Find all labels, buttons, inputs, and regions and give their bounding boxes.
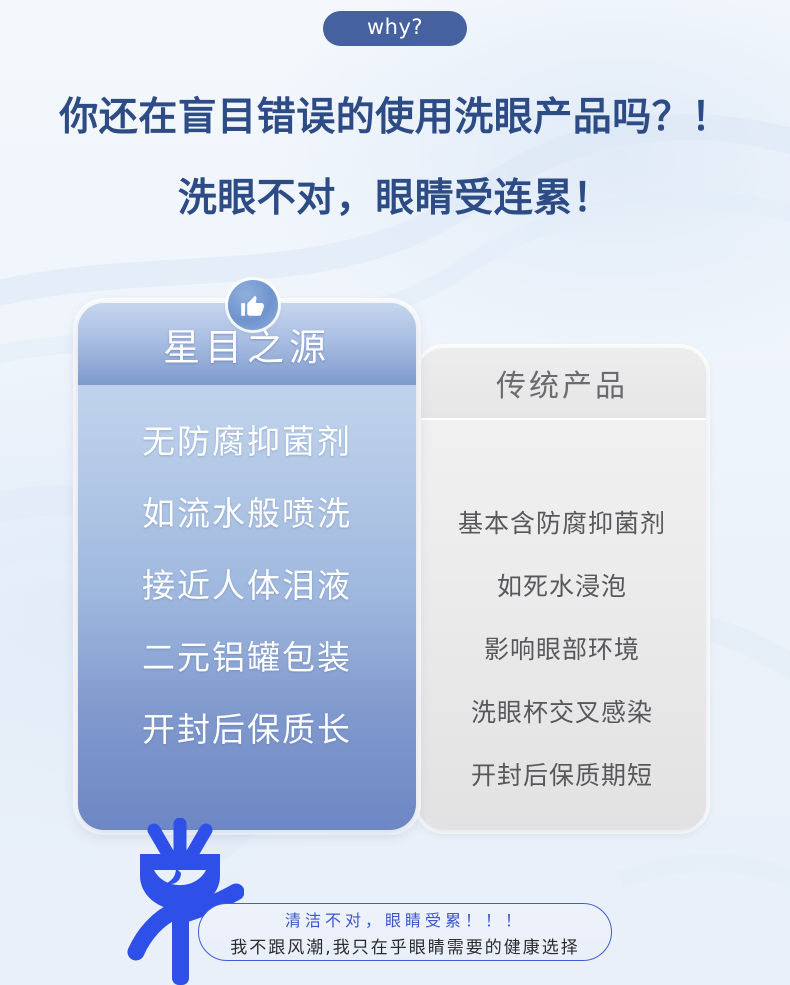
traditional-card-title: 传统产品	[496, 361, 628, 405]
list-item: 开封后保质期短	[471, 756, 653, 792]
traditional-product-card: 传统产品 基本含防腐抑菌剂 如死水浸泡 影响眼部环境 洗眼杯交叉感染 开封后保质…	[418, 348, 706, 830]
infographic-page: why? 你还在盲目错误的使用洗眼产品吗？！ 洗眼不对，眼睛受连累！ 传统产品 …	[0, 0, 790, 985]
list-item: 基本含防腐抑菌剂	[458, 504, 666, 540]
brand-card-body: 无防腐抑菌剂 如流水般喷洗 接近人体泪液 二元铝罐包装 开封后保质长	[78, 385, 416, 830]
list-item: 开封后保质长	[142, 703, 352, 751]
headline-secondary: 洗眼不对，眼睛受连累！	[0, 167, 790, 223]
slogan-main-line: 我不跟风潮,我只在乎眼睛需要的健康选择	[230, 933, 579, 958]
brand-product-card: 星目之源 无防腐抑菌剂 如流水般喷洗 接近人体泪液 二元铝罐包装 开封后保质长	[78, 303, 416, 830]
list-item: 二元铝罐包装	[142, 631, 352, 679]
why-badge: why?	[323, 11, 467, 46]
list-item: 接近人体泪液	[142, 559, 352, 607]
traditional-card-body: 基本含防腐抑菌剂 如死水浸泡 影响眼部环境 洗眼杯交叉感染 开封后保质期短	[418, 420, 706, 830]
traditional-card-header: 传统产品	[418, 348, 706, 420]
slogan-accent-line: 清洁不对，眼睛受累！！！	[285, 907, 525, 931]
thumbs-up-icon	[228, 280, 278, 330]
list-item: 影响眼部环境	[484, 630, 640, 666]
bottom-slogan-banner: 清洁不对，眼睛受累！！！ 我不跟风潮,我只在乎眼睛需要的健康选择	[198, 903, 612, 961]
headline-primary: 你还在盲目错误的使用洗眼产品吗？！	[0, 86, 790, 142]
list-item: 洗眼杯交叉感染	[471, 693, 653, 729]
list-item: 如死水浸泡	[497, 567, 627, 603]
list-item: 无防腐抑菌剂	[142, 415, 352, 463]
list-item: 如流水般喷洗	[142, 487, 352, 535]
